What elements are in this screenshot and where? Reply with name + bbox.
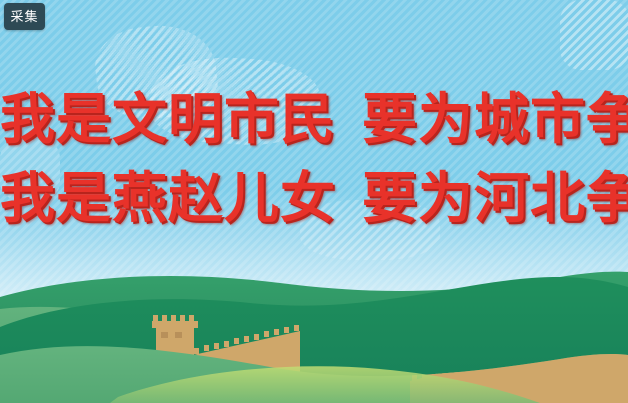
landscape-illustration	[0, 263, 628, 403]
sky-hatch-patch	[560, 0, 628, 70]
slogan-line2-left: 我是燕赵儿女	[0, 167, 336, 229]
slogan-line-1: 我是文明市民要为城市争光	[0, 92, 628, 147]
slogan-line1-left: 我是文明市民	[0, 88, 336, 150]
capture-button[interactable]: 采集	[4, 3, 45, 30]
slogan-block: 我是文明市民要为城市争光 我是燕赵儿女要为河北争气	[0, 92, 628, 226]
slogan-line2-right: 要为河北争气	[362, 167, 628, 229]
slogan-line1-right: 要为城市争光	[362, 88, 628, 150]
banner-image: 我是文明市民要为城市争光 我是燕赵儿女要为河北争气 采集	[0, 0, 628, 403]
slogan-line-2: 我是燕赵儿女要为河北争气	[0, 171, 628, 226]
